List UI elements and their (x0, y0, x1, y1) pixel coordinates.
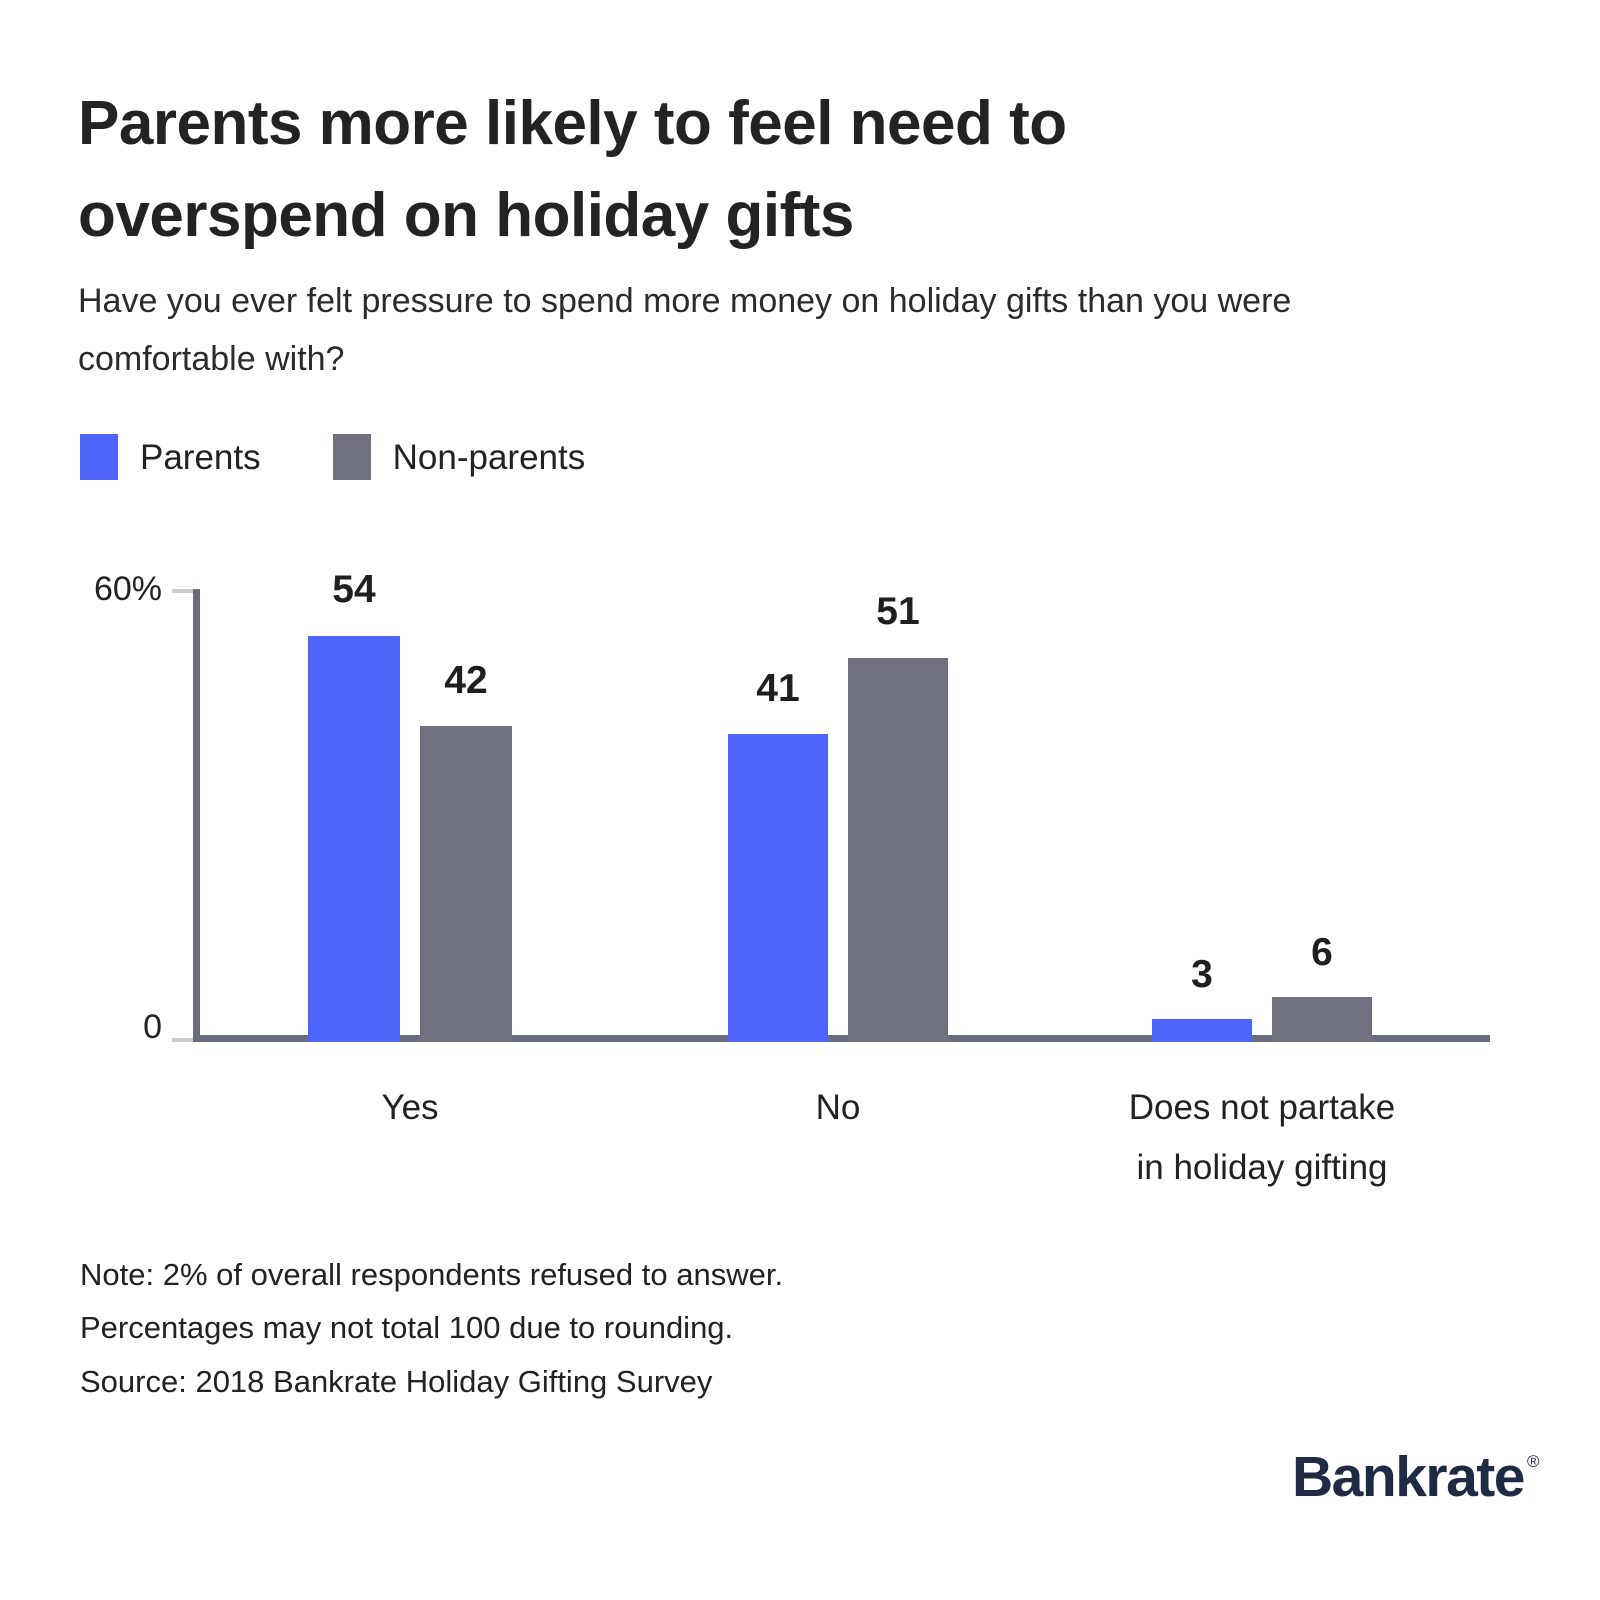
y-axis-line (193, 589, 200, 1042)
legend-swatch-parents (80, 434, 118, 480)
bar-value-no-non-parents: 51 (848, 592, 948, 631)
registered-mark-icon: ® (1527, 1453, 1538, 1470)
bar-no-parents[interactable] (728, 734, 828, 1042)
bar-value-no-parents: 41 (728, 669, 828, 708)
bar-value-partake-parents: 3 (1152, 955, 1252, 994)
note-source: Source: 2018 Bankrate Holiday Gifting Su… (80, 1355, 783, 1408)
bar-partake-non-parents[interactable] (1272, 997, 1372, 1042)
page-title: Parents more likely to feel need to over… (78, 78, 1328, 262)
bankrate-wordmark: Bankrate (1292, 1449, 1524, 1506)
x-axis-label-no: No (688, 1078, 988, 1138)
x-axis-label-yes: Yes (260, 1078, 560, 1138)
bar-no-non-parents[interactable] (848, 658, 948, 1042)
x-axis-label-does-not-partake: Does not partake in holiday gifting (1072, 1078, 1452, 1198)
y-axis-tick-top (172, 589, 196, 593)
bar-value-yes-non-parents: 42 (416, 661, 516, 700)
y-axis-tick-zero (172, 1038, 196, 1042)
legend-item-parents[interactable]: Parents (80, 434, 261, 480)
bar-value-partake-non-parents: 6 (1272, 933, 1372, 972)
chart-subtitle: Have you ever felt pressure to spend mor… (78, 272, 1468, 389)
bar-value-yes-parents: 54 (304, 570, 404, 609)
legend-label-non-parents: Non-parents (393, 440, 586, 475)
bankrate-logo: Bankrate ® (1292, 1449, 1538, 1506)
legend-swatch-non-parents (333, 434, 371, 480)
legend-label-parents: Parents (140, 440, 261, 475)
chart-page: Parents more likely to feel need to over… (0, 0, 1600, 1600)
chart-footnotes: Note: 2% of overall respondents refused … (80, 1248, 783, 1408)
x-axis-line (193, 1035, 1490, 1042)
bar-yes-non-parents[interactable] (420, 726, 512, 1042)
y-axis-top-label: 60% (42, 572, 162, 606)
bar-yes-parents[interactable] (308, 636, 400, 1042)
legend-item-non-parents[interactable]: Non-parents (333, 434, 586, 480)
note-refused: Note: 2% of overall respondents refused … (80, 1248, 783, 1301)
y-axis-zero-label: 0 (42, 1010, 162, 1044)
chart-legend: Parents Non-parents (80, 434, 585, 480)
note-rounding: Percentages may not total 100 due to rou… (80, 1301, 783, 1354)
bar-partake-parents[interactable] (1152, 1019, 1252, 1042)
